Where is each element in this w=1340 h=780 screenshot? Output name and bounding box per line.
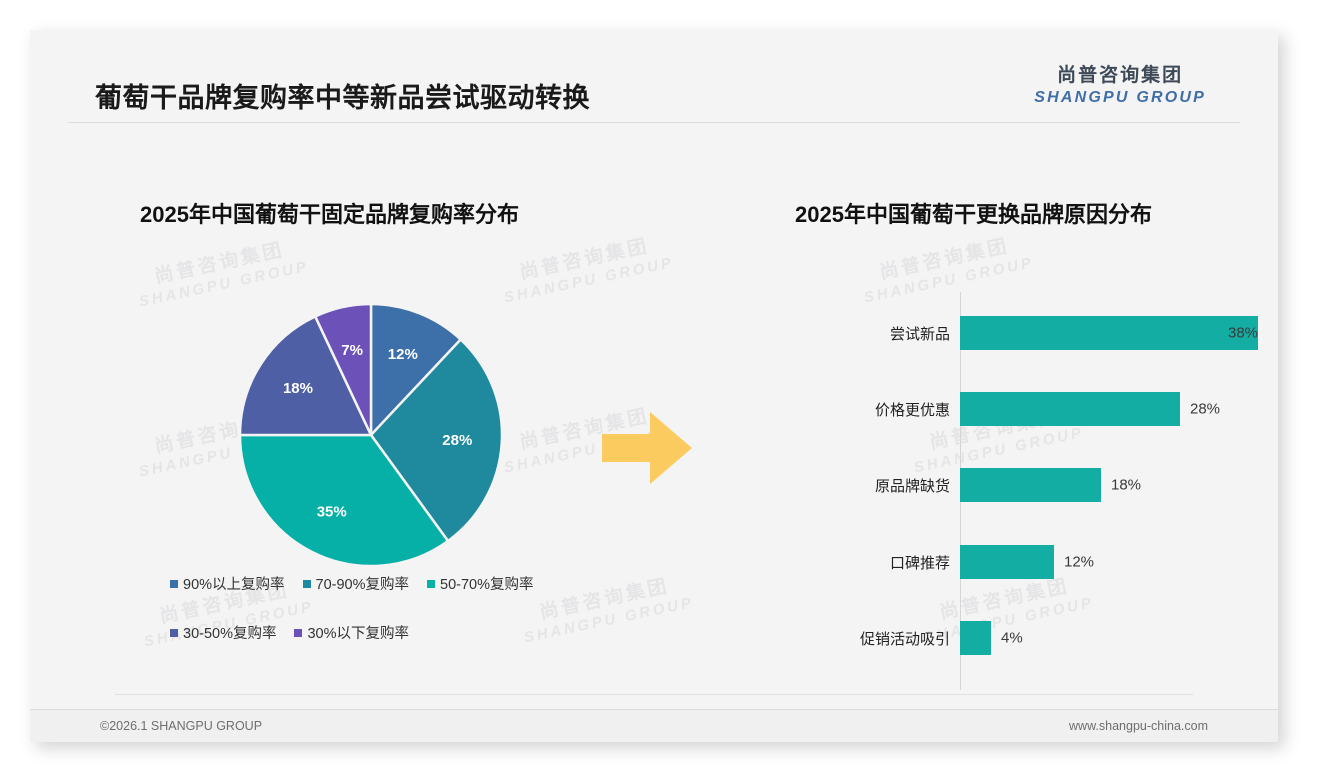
legend-item[interactable]: 30-50%复购率 — [170, 622, 276, 643]
legend-label: 50-70%复购率 — [440, 573, 533, 594]
bar-row[interactable]: 口碑推荐 12% — [790, 545, 1270, 579]
bar-value-label: 38% — [1228, 325, 1258, 342]
pie-chart: 12%28%35%18%7% — [238, 302, 504, 568]
bar-chart-title: 2025年中国葡萄干更换品牌原因分布 — [795, 197, 1152, 229]
bar-category-label: 价格更优惠 — [790, 399, 960, 420]
right-arrow-icon — [602, 408, 694, 493]
page-title: 葡萄干品牌复购率中等新品尝试驱动转换 — [95, 76, 590, 115]
bar-category-label: 尝试新品 — [790, 323, 960, 344]
bar-category-label: 原品牌缺货 — [790, 475, 960, 496]
logo-chinese-name: 尚普咨询集团 — [1034, 66, 1206, 85]
pie-chart-svg: 12%28%35%18%7% — [238, 302, 504, 568]
legend-swatch-icon — [294, 629, 302, 637]
slide-card: 葡萄干品牌复购率中等新品尝试驱动转换 尚普咨询集团 SHANGPU GROUP … — [30, 30, 1278, 742]
brand-logo: 尚普咨询集团 SHANGPU GROUP — [1034, 66, 1206, 106]
bar-row[interactable]: 原品牌缺货 18% — [790, 468, 1270, 502]
slide-footer: ©2026.1 SHANGPU GROUP www.shangpu-china.… — [30, 710, 1278, 742]
legend-item[interactable]: 50-70%复购率 — [427, 573, 533, 594]
bar-track: 18% — [960, 468, 1270, 502]
legend-label: 70-90%复购率 — [316, 573, 409, 594]
legend-label: 90%以上复购率 — [183, 573, 285, 594]
bar-track: 4% — [960, 621, 1270, 655]
bar-value-label: 4% — [1001, 630, 1023, 647]
pie-legend: 90%以上复购率 70-90%复购率 50-70%复购率 30-50%复购率 3… — [170, 573, 590, 643]
watermark: 尚普咨询集团SHANGPU GROUP — [132, 234, 310, 312]
legend-row: 30-50%复购率 30%以下复购率 — [170, 622, 590, 643]
pie-slice-label: 28% — [442, 432, 472, 449]
pie-slice-label: 35% — [317, 504, 347, 521]
bar-fill — [960, 468, 1101, 502]
bar-value-label: 28% — [1190, 401, 1220, 418]
pie-slice-label: 12% — [388, 346, 418, 363]
watermark: 尚普咨询集团SHANGPU GROUP — [497, 230, 675, 308]
bar-track: 12% — [960, 545, 1270, 579]
bar-row[interactable]: 价格更优惠 28% — [790, 392, 1270, 426]
bar-value-label: 12% — [1064, 554, 1094, 571]
logo-english-name: SHANGPU GROUP — [1034, 90, 1206, 106]
legend-label: 30-50%复购率 — [183, 622, 276, 643]
header-divider — [68, 122, 1240, 123]
bar-fill — [960, 545, 1054, 579]
legend-label: 30%以下复购率 — [307, 622, 409, 643]
legend-swatch-icon — [427, 580, 435, 588]
bar-fill — [960, 621, 991, 655]
bar-value-label: 18% — [1111, 477, 1141, 494]
pie-slice-label: 18% — [283, 380, 313, 397]
bar-fill — [960, 316, 1258, 350]
footer-divider — [30, 709, 1278, 710]
bar-row[interactable]: 尝试新品 38% — [790, 316, 1270, 350]
bar-category-label: 口碑推荐 — [790, 552, 960, 573]
bar-category-label: 促销活动吸引 — [790, 628, 960, 649]
footer-website: www.shangpu-china.com — [1069, 719, 1208, 733]
pie-slice-label: 7% — [341, 342, 363, 359]
legend-swatch-icon — [170, 580, 178, 588]
legend-swatch-icon — [170, 629, 178, 637]
legend-row: 90%以上复购率 70-90%复购率 50-70%复购率 — [170, 573, 590, 594]
bar-fill — [960, 392, 1180, 426]
legend-item[interactable]: 30%以下复购率 — [294, 622, 409, 643]
legend-item[interactable]: 90%以上复购率 — [170, 573, 285, 594]
bar-track: 28% — [960, 392, 1270, 426]
bar-track: 38% — [960, 316, 1270, 350]
legend-item[interactable]: 70-90%复购率 — [303, 573, 409, 594]
slide-header: 葡萄干品牌复购率中等新品尝试驱动转换 尚普咨询集团 SHANGPU GROUP — [30, 30, 1278, 126]
pie-chart-title: 2025年中国葡萄干固定品牌复购率分布 — [140, 197, 519, 229]
footer-copyright: ©2026.1 SHANGPU GROUP — [100, 719, 262, 733]
bar-chart: 尝试新品 38% 价格更优惠 28% 原品牌缺货 18% 口碑推荐 — [790, 292, 1270, 690]
bar-row[interactable]: 促销活动吸引 4% — [790, 621, 1270, 655]
legend-swatch-icon — [303, 580, 311, 588]
footnote-divider — [115, 694, 1193, 695]
right-arrow-svg — [602, 408, 694, 488]
